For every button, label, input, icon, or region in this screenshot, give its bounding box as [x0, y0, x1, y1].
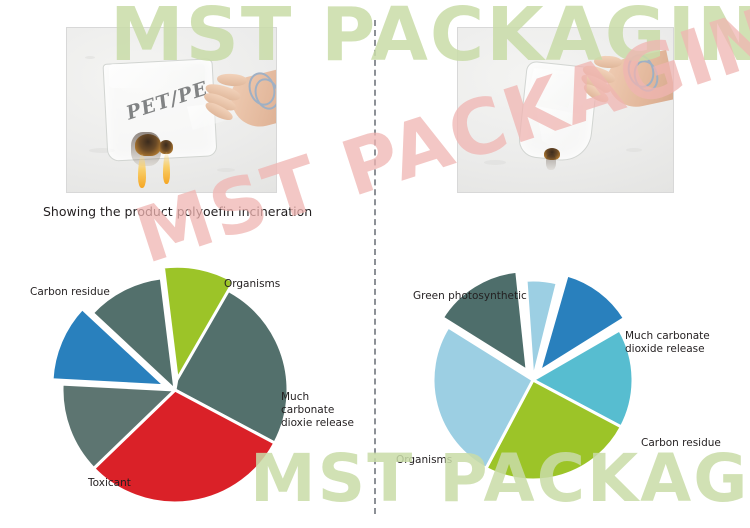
pie-label-carbonate-right-line2: dioxide release	[625, 343, 705, 355]
photo-biobased-incineration	[457, 27, 674, 193]
pie-label-carbonate-right: Much carbonate dioxide release	[625, 330, 715, 356]
burn-hole	[135, 134, 161, 156]
panel-divider	[374, 20, 376, 514]
wall-blemish	[217, 168, 235, 172]
pie-chart-left-svg	[20, 262, 370, 512]
pie-label-carbonate-left: Much carbonate dioxie release	[281, 391, 361, 430]
pie-label-carbon-residue-right: Carbon residue	[641, 437, 721, 450]
caption-left: Showing the product polyoefin incinerati…	[43, 203, 353, 220]
pie-chart-left	[20, 262, 370, 512]
pie-label-organisms-right: Organisms	[396, 454, 452, 467]
pie-label-carbonate-left-line1: Much carbonate	[281, 391, 334, 416]
wall-blemish	[85, 56, 95, 59]
soot-streak	[546, 154, 556, 170]
pie-label-carbon-residue-left: Carbon residue	[30, 286, 110, 299]
wall-blemish	[626, 148, 642, 152]
pie-label-carbonate-right-line1: Much carbonate	[625, 330, 710, 342]
photo-polyolefin-incineration: PET/PE	[66, 27, 277, 193]
pie-label-carbonate-left-line2: dioxie release	[281, 417, 354, 429]
pie-label-organisms-left: Organisms	[224, 278, 280, 291]
pie-label-green-photosynthetic-right: Green photosynthetic	[413, 290, 527, 303]
pie-label-toxicant-left: Toxicant	[88, 477, 131, 490]
wall-blemish	[484, 160, 506, 165]
